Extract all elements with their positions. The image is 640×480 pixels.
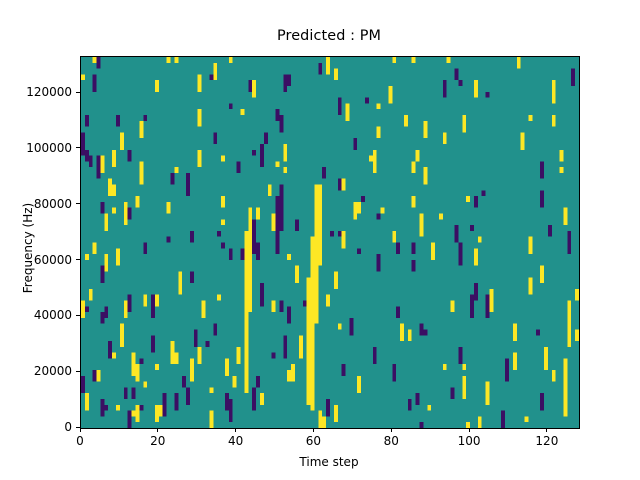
heatmap-axes [80, 56, 580, 429]
y-tick-mark [76, 92, 80, 93]
x-tick-mark [235, 428, 236, 432]
page-title: Predicted : PM [80, 28, 578, 44]
x-tick-mark [391, 428, 392, 432]
y-tick-label: 20000 [0, 364, 72, 378]
x-tick-label: 20 [150, 434, 165, 448]
y-tick-mark [76, 203, 80, 204]
x-tick-mark [546, 428, 547, 432]
x-axis-label: Time step [80, 455, 578, 469]
y-tick-label: 40000 [0, 308, 72, 322]
y-tick-label: 120000 [0, 85, 72, 99]
x-tick-label: 40 [228, 434, 243, 448]
y-tick-label: 60000 [0, 253, 72, 267]
x-tick-label: 60 [306, 434, 321, 448]
y-tick-mark [76, 147, 80, 148]
y-tick-mark [76, 371, 80, 372]
x-tick-mark [313, 428, 314, 432]
x-tick-mark [80, 428, 81, 432]
y-tick-mark [76, 259, 80, 260]
x-tick-label: 100 [458, 434, 481, 448]
y-tick-mark [76, 315, 80, 316]
x-tick-label: 80 [384, 434, 399, 448]
y-tick-label: 80000 [0, 197, 72, 211]
x-tick-mark [469, 428, 470, 432]
heatmap-image [81, 57, 579, 428]
x-tick-label: 0 [76, 434, 84, 448]
x-tick-mark [157, 428, 158, 432]
y-tick-label: 0 [0, 420, 72, 434]
x-tick-label: 120 [535, 434, 558, 448]
y-tick-label: 100000 [0, 141, 72, 155]
matplotlib-figure: Predicted : PM Frequency (Hz) Time step … [0, 0, 640, 480]
